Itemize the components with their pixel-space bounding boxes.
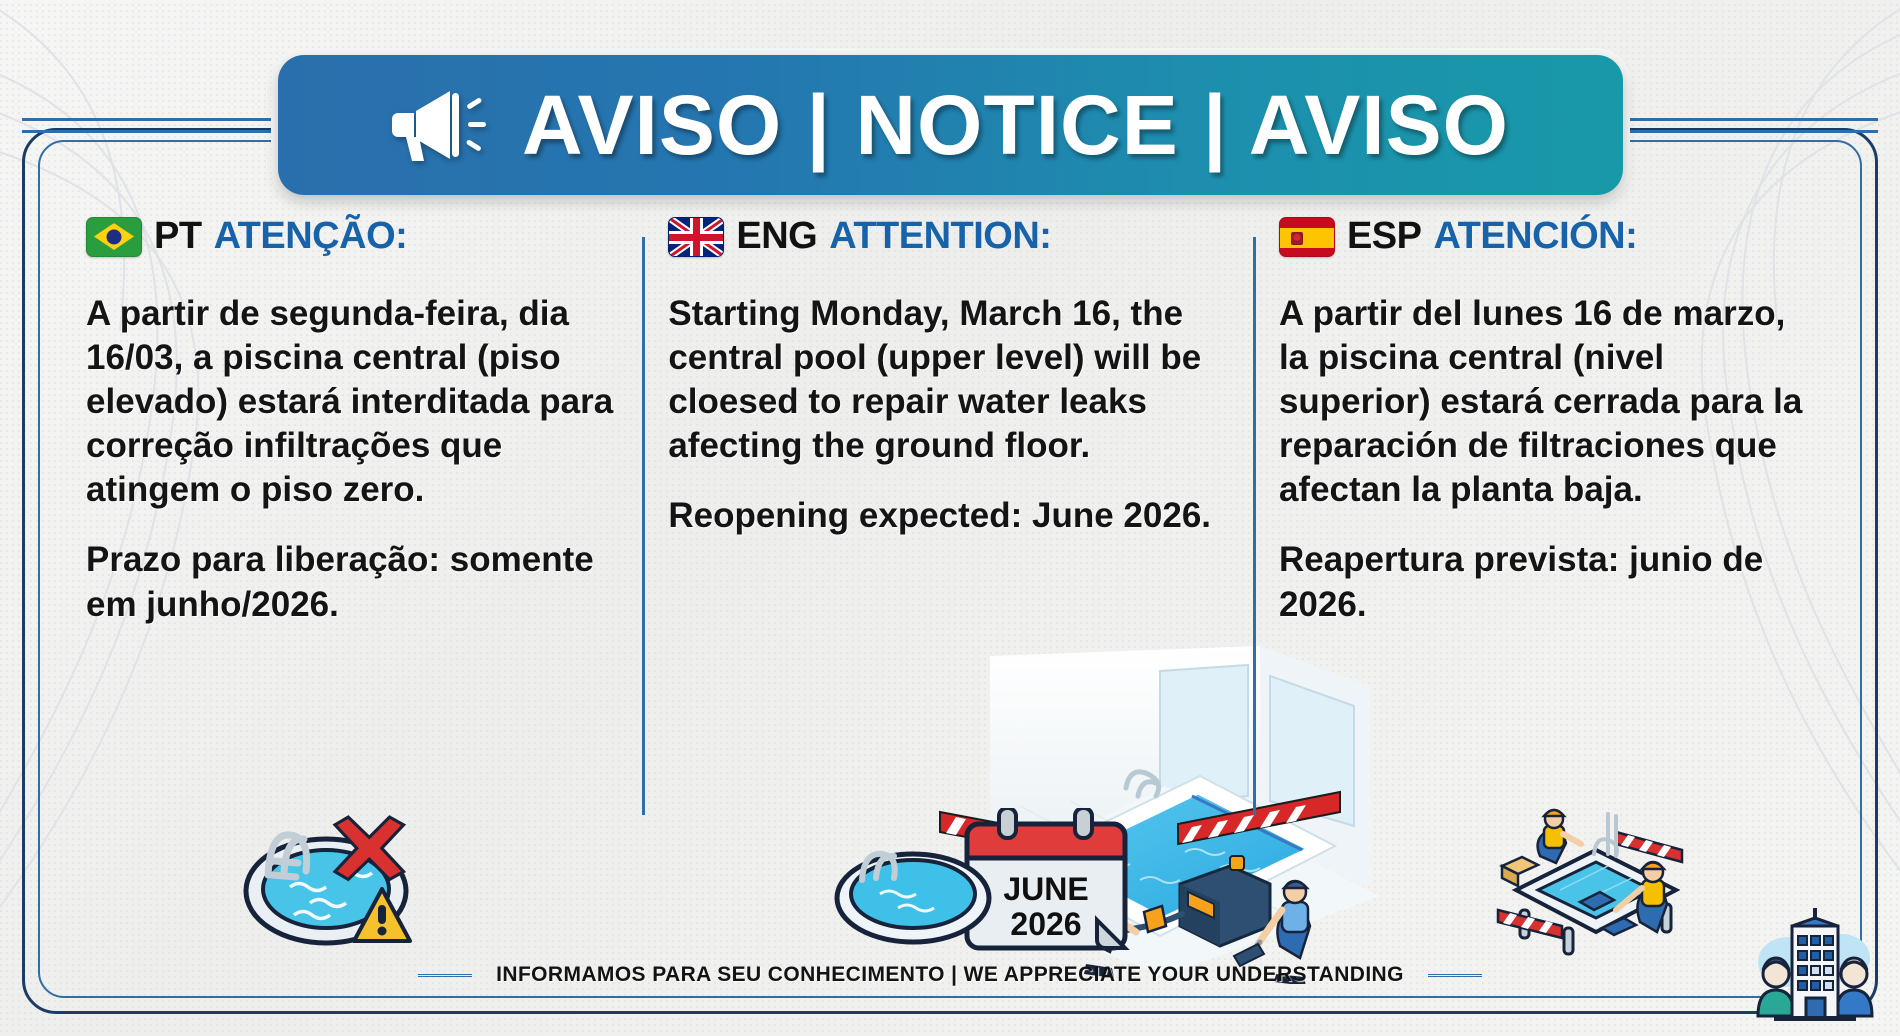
column-eng-body: Starting Monday, March 16, the central p… [668,292,1227,538]
column-esp-paragraph-1: A partir del lunes 16 de marzo, la pisci… [1279,292,1814,512]
column-eng-attention: ATTENTION: [829,215,1051,258]
column-divider-2 [1253,237,1256,815]
column-eng-lang-code: ENG [736,215,817,258]
banner-connector-left-top [22,118,284,121]
column-pt: PT ATENÇÃO: A partir de segunda-feira, d… [60,215,642,935]
column-pt-body: A partir de segunda-feira, dia 16/03, a … [86,292,616,627]
banner-title: AVISO | NOTICE | AVISO [522,77,1509,174]
brazil-flag-icon [86,217,142,257]
footer-text: INFORMAMOS PARA SEU CONHECIMENTO | WE AP… [496,963,1404,987]
column-esp-body: A partir del lunes 16 de marzo, la pisci… [1279,292,1814,627]
column-eng: ENG ATTENTION: Starting Monday, March 16… [642,215,1253,935]
column-eng-paragraph-1: Starting Monday, March 16, the central p… [668,292,1227,468]
spain-flag-icon [1279,217,1335,257]
column-pt-header: PT ATENÇÃO: [86,215,616,258]
footer: INFORMAMOS PARA SEU CONHECIMENTO | WE AP… [0,952,1900,998]
footer-line-right [1428,974,1482,977]
column-esp: ESP ATENCIÓN: A partir del lunes 16 de m… [1253,215,1840,935]
column-esp-lang-code: ESP [1347,215,1422,258]
megaphone-icon [392,85,496,165]
notice-banner: AVISO | NOTICE | AVISO [278,55,1623,195]
uk-flag-icon [668,217,724,257]
banner-connector-right-bottom [1616,130,1878,133]
column-eng-header: ENG ATTENTION: [668,215,1227,258]
notice-columns: PT ATENÇÃO: A partir de segunda-feira, d… [60,215,1840,935]
column-pt-paragraph-2: Prazo para liberação: somente em junho/2… [86,538,616,626]
column-pt-attention: ATENÇÃO: [214,215,408,258]
column-esp-paragraph-2: Reapertura prevista: junio de 2026. [1279,538,1814,626]
column-divider-1 [642,237,645,815]
banner-connector-right-top [1616,118,1878,121]
footer-line-left [418,974,472,977]
column-pt-lang-code: PT [154,215,202,258]
column-esp-attention: ATENCIÓN: [1434,215,1638,258]
column-eng-paragraph-2: Reopening expected: June 2026. [668,494,1227,538]
column-esp-header: ESP ATENCIÓN: [1279,215,1814,258]
banner-connector-left-bottom [22,130,284,133]
column-pt-paragraph-1: A partir de segunda-feira, dia 16/03, a … [86,292,616,512]
